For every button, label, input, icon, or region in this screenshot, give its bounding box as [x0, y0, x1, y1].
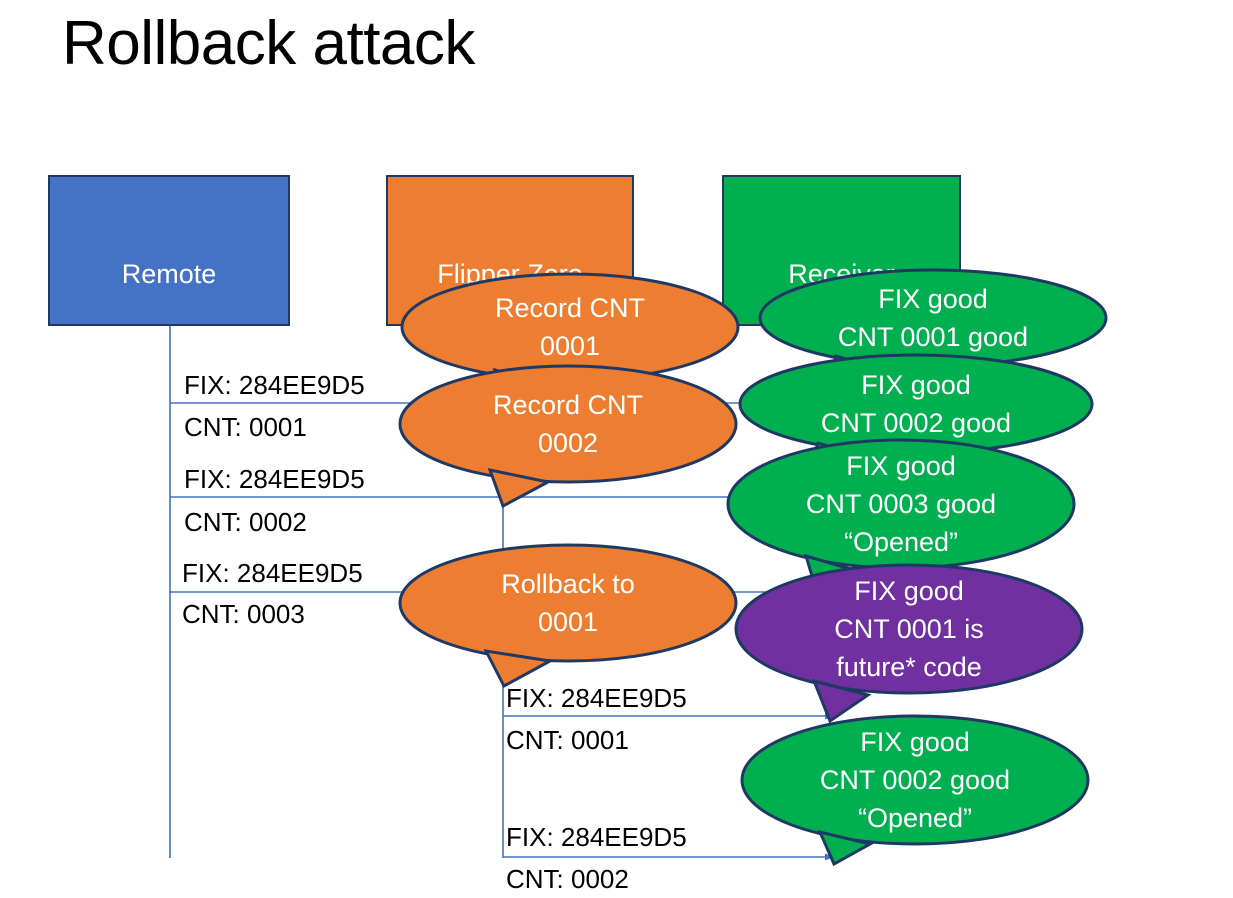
message-cnt-remote-3: CNT: 0003: [182, 601, 305, 628]
callout-record-cnt-0002[interactable]: Record CNT 0002: [398, 364, 738, 484]
message-cnt-flipper-1: CNT: 0001: [506, 727, 629, 754]
message-cnt-remote-1: CNT: 0001: [184, 414, 307, 441]
actor-label-remote: Remote: [122, 259, 217, 290]
message-fix-flipper-2: FIX: 284EE9D5: [506, 824, 687, 851]
page-title: Rollback attack: [62, 8, 1062, 79]
actor-box-remote[interactable]: Remote: [48, 175, 290, 326]
callout-fix-good-cnt-0001-future[interactable]: FIX good CNT 0001 is future* code: [734, 563, 1084, 695]
message-fix-remote-2: FIX: 284EE9D5: [184, 466, 365, 493]
callout-fix-good-cnt-0003-opened[interactable]: FIX good CNT 0003 good “Opened”: [726, 438, 1076, 570]
callout-fix-good-cnt-0002-opened[interactable]: FIX good CNT 0002 good “Opened”: [740, 714, 1090, 846]
message-cnt-remote-2: CNT: 0002: [184, 509, 307, 536]
callout-rollback-to-0001[interactable]: Rollback to 0001: [398, 543, 738, 663]
message-fix-remote-3: FIX: 284EE9D5: [182, 560, 363, 587]
message-cnt-flipper-2: CNT: 0002: [506, 866, 629, 893]
message-fix-remote-1: FIX: 284EE9D5: [184, 372, 365, 399]
slide-canvas: Rollback attack Remote Fli: [0, 0, 1233, 898]
